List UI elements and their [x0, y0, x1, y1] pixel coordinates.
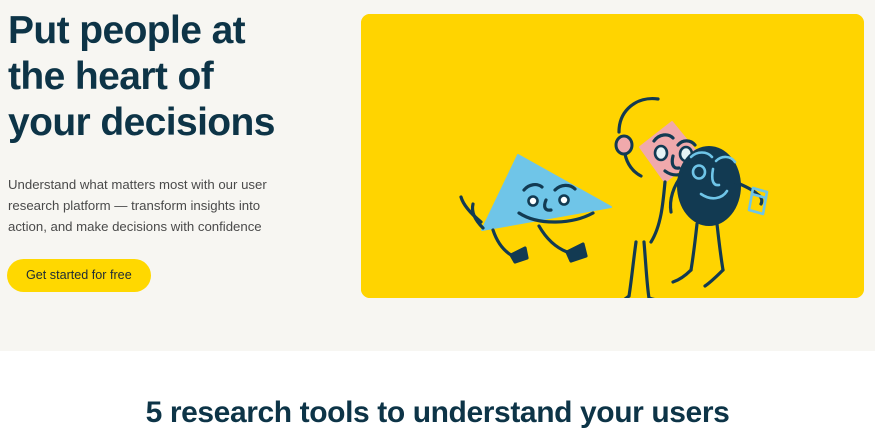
section-heading: 5 research tools to understand your user… [0, 395, 875, 431]
research-tools-section: 5 research tools to understand your user… [0, 351, 875, 440]
page-title: Put people at the heart of your decision… [8, 8, 338, 146]
hero-subtext: Understand what matters most with our us… [8, 174, 298, 237]
get-started-button[interactable]: Get started for free [7, 259, 151, 292]
hero-section: Put people at the heart of your decision… [0, 0, 875, 351]
characters-illustration [361, 14, 864, 298]
hero-text-column: Put people at the heart of your decision… [8, 8, 338, 292]
page-root: Put people at the heart of your decision… [0, 0, 875, 440]
hero-video-panel[interactable] [361, 14, 864, 298]
